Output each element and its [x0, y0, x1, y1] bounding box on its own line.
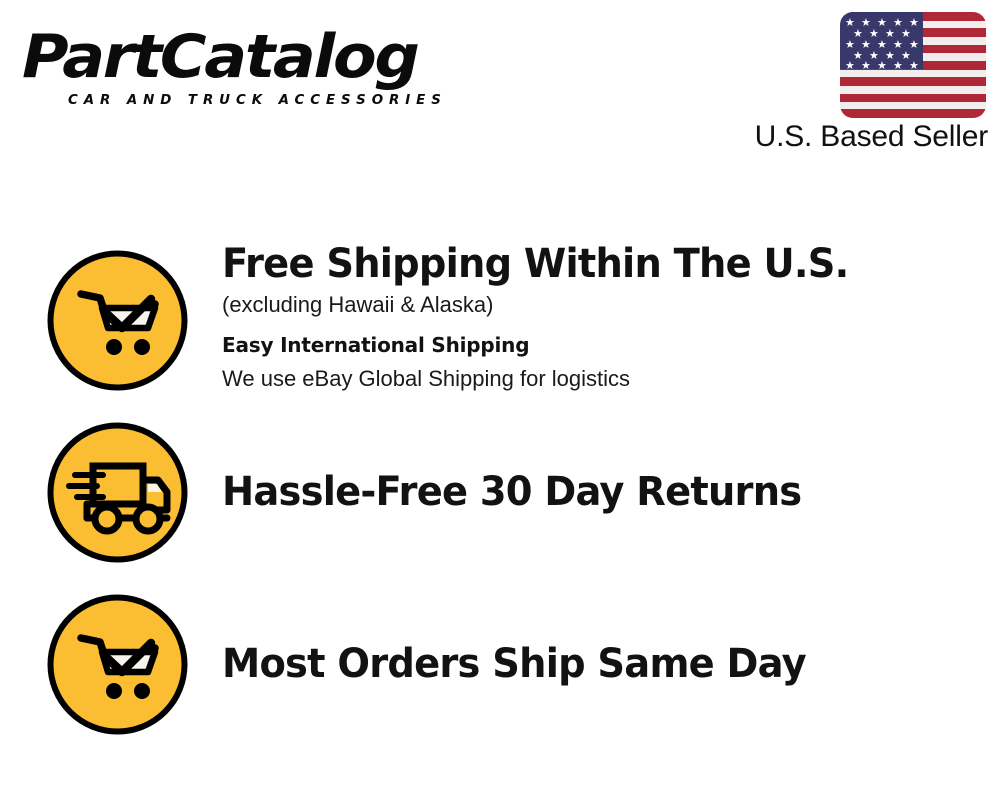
flag-star: ★	[845, 60, 855, 71]
benefit-text-block: Hassle-Free 30 Day Returns	[222, 412, 962, 572]
flag-canton: ★ ★ ★ ★ ★ ★ ★ ★ ★ ★ ★ ★ ★ ★ ★ ★ ★ ★ ★ ★ …	[840, 12, 923, 69]
header-bar: PartCatalog CAR AND TRUCK ACCESSORIES ★ …	[0, 0, 1000, 175]
benefit-headline: Free Shipping Within The U.S.	[222, 240, 932, 288]
shopping-cart-check-icon	[45, 248, 190, 393]
flag-star: ★	[877, 60, 887, 71]
shopping-cart-check-icon	[45, 592, 190, 737]
flag-stripe	[840, 109, 986, 118]
flag-stripe	[840, 94, 986, 103]
benefit-row: Hassle-Free 30 Day Returns	[0, 412, 1000, 578]
flag-star: ★	[893, 60, 903, 71]
benefit-row: Free Shipping Within The U.S. (excluding…	[0, 240, 1000, 406]
benefit-headline: Most Orders Ship Same Day	[222, 640, 806, 688]
benefit-sub-detail: We use eBay Global Shipping for logistic…	[222, 362, 962, 396]
benefit-headline: Hassle-Free 30 Day Returns	[222, 468, 801, 516]
brand-wordmark: PartCatalog	[22, 22, 418, 92]
benefit-text-block: Free Shipping Within The U.S. (excluding…	[222, 240, 962, 406]
delivery-truck-icon	[45, 420, 190, 565]
us-based-seller-label: U.S. Based Seller	[755, 120, 988, 154]
us-flag-icon: ★ ★ ★ ★ ★ ★ ★ ★ ★ ★ ★ ★ ★ ★ ★ ★ ★ ★ ★ ★ …	[840, 12, 986, 118]
brand-tagline: CAR AND TRUCK ACCESSORIES	[68, 92, 447, 108]
flag-stripe	[840, 77, 986, 86]
brand-logo[interactable]: PartCatalog CAR AND TRUCK ACCESSORIES	[22, 22, 492, 114]
benefit-text-block: Most Orders Ship Same Day	[222, 584, 962, 744]
flag-star: ★	[909, 60, 919, 71]
flag-star: ★	[861, 60, 871, 71]
benefit-sub-heading: Easy International Shipping	[222, 328, 962, 362]
benefit-row: Most Orders Ship Same Day	[0, 584, 1000, 750]
benefit-subline: (excluding Hawaii & Alaska)	[222, 288, 962, 322]
